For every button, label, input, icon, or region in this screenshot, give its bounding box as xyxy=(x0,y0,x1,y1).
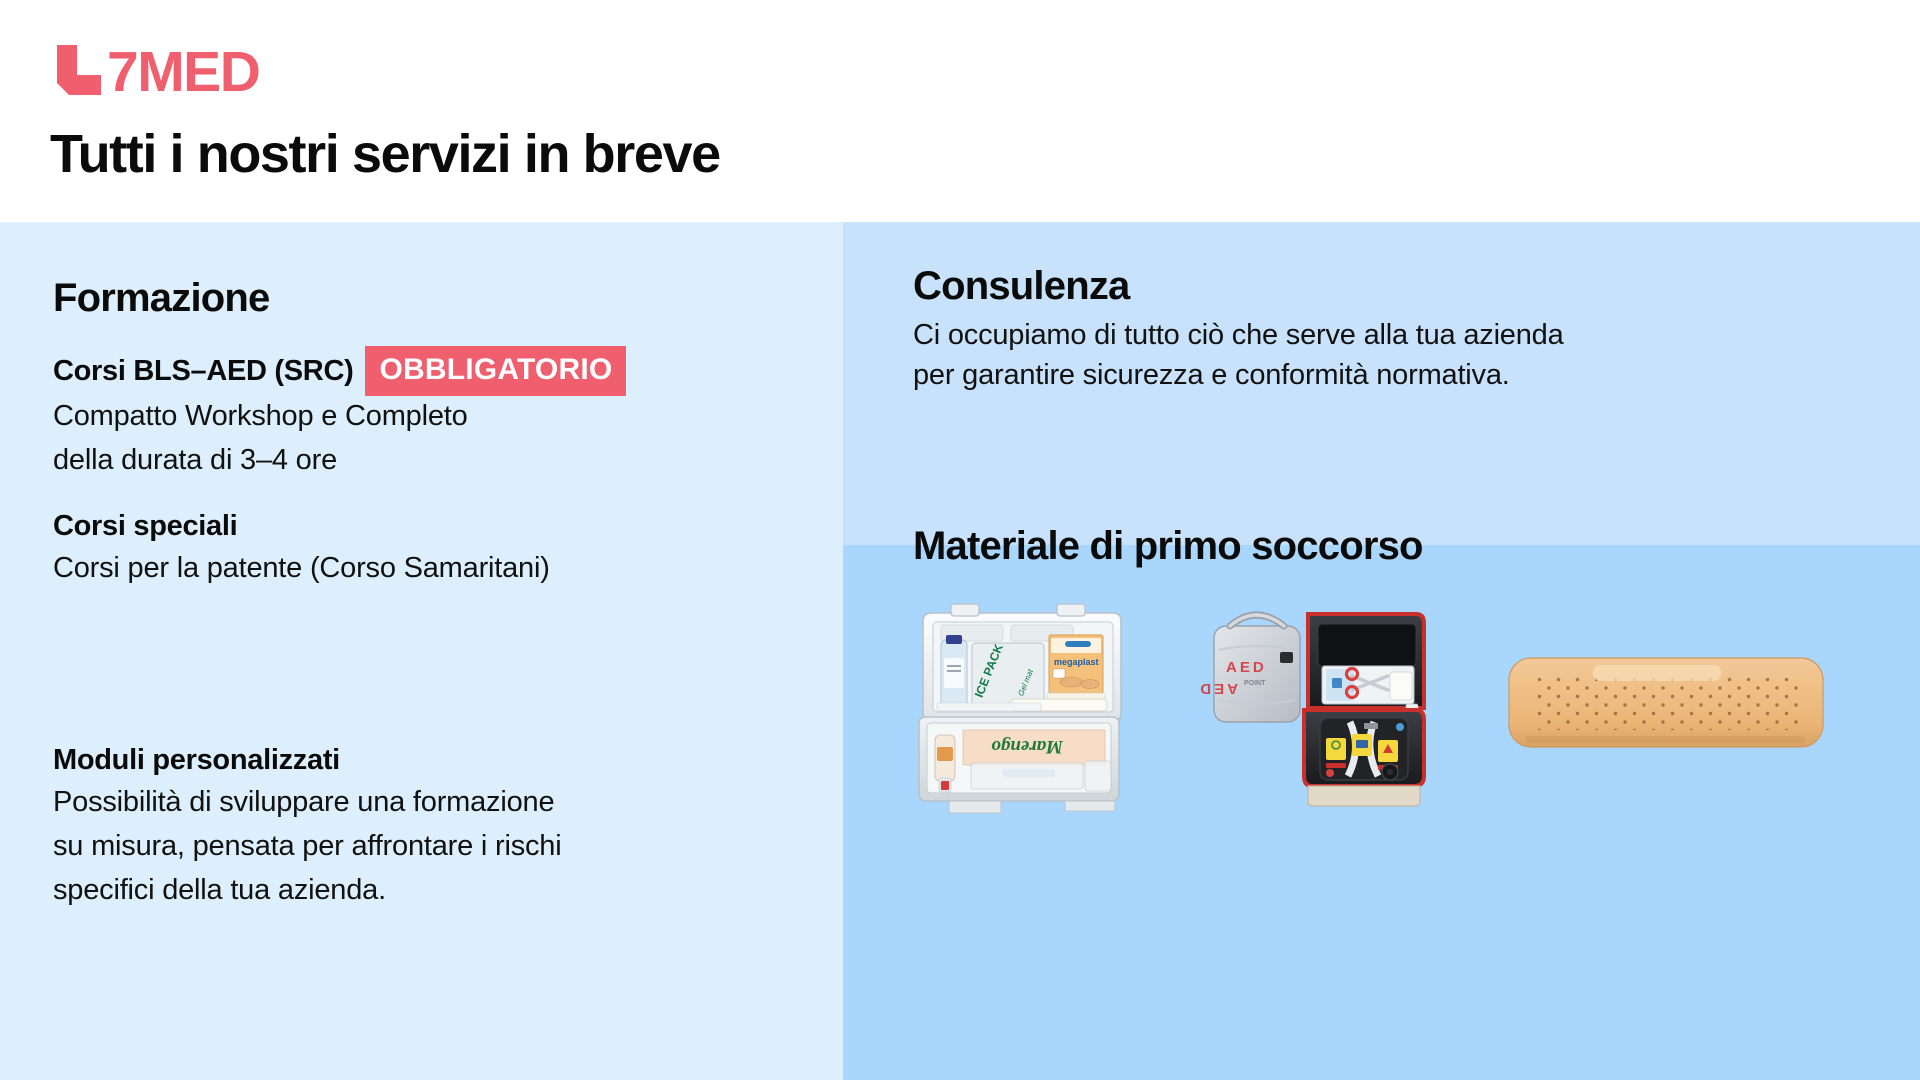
adhesive-bandage-image xyxy=(1507,650,1825,755)
corsi-speciali-description: Corsi per la patente (Corso Samaritani) xyxy=(53,546,550,590)
formazione-heading: Formazione xyxy=(53,274,269,322)
corsi-bls-aed-desc-line2: della durata di 3–4 ore xyxy=(53,438,468,482)
formazione-panel: Formazione Corsi BLS–AED (SRC) OBBLIGATO… xyxy=(0,222,843,1080)
consulenza-description: Ci occupiamo di tutto ciò che serve alla… xyxy=(913,315,1564,395)
consulenza-heading: Consulenza xyxy=(913,262,1129,310)
brand-logo[interactable]: 7MED xyxy=(53,33,259,95)
consulenza-desc-line1: Ci occupiamo di tutto ciò che serve alla… xyxy=(913,315,1564,355)
aed-defibrillator-image: AED AED POINT xyxy=(1200,590,1430,815)
page-title: Tutti i nostri servizi in breve xyxy=(50,122,720,186)
moduli-desc-line3: specifici della tua azienda. xyxy=(53,868,561,912)
corsi-bls-aed-title: Corsi BLS–AED (SRC) xyxy=(53,351,353,391)
moduli-desc-line2: su misura, pensata per affrontare i risc… xyxy=(53,824,561,868)
brand-logo-text: 7MED xyxy=(107,46,259,98)
corsi-bls-aed-desc-line1: Compatto Workshop e Completo xyxy=(53,394,468,438)
svg-text:AED: AED xyxy=(1226,659,1267,676)
moduli-personalizzati-description: Possibilità di sviluppare una formazione… xyxy=(53,780,561,912)
materiale-heading: Materiale di primo soccorso xyxy=(913,522,1423,570)
svg-text:POINT: POINT xyxy=(1244,680,1266,687)
svg-text:Marengo: Marengo xyxy=(991,736,1064,757)
svg-text:AED: AED xyxy=(1200,680,1238,697)
header: 7MED Tutti i nostri servizi in breve xyxy=(0,0,1920,222)
slide-root: 7MED Tutti i nostri servizi in breve For… xyxy=(0,0,1920,1080)
corsi-bls-aed-row: Corsi BLS–AED (SRC) OBBLIGATORIO xyxy=(53,350,626,392)
corsi-bls-aed-description: Compatto Workshop e Completo della durat… xyxy=(53,394,468,482)
moduli-personalizzati-title: Moduli personalizzati xyxy=(53,740,340,780)
consulenza-desc-line2: per garantire sicurezza e conformità nor… xyxy=(913,355,1564,395)
product-image-row: ICE PACK Gel mat megaplast M xyxy=(915,810,1835,1040)
corsi-speciali-title: Corsi speciali xyxy=(53,506,237,546)
svg-text:megaplast: megaplast xyxy=(1054,657,1099,667)
first-aid-kit-image: ICE PACK Gel mat megaplast M xyxy=(915,595,1130,820)
moduli-desc-line1: Possibilità di sviluppare una formazione xyxy=(53,780,561,824)
7med-arrow-mark-icon xyxy=(53,45,105,95)
obbligatorio-badge: OBBLIGATORIO xyxy=(365,346,626,396)
